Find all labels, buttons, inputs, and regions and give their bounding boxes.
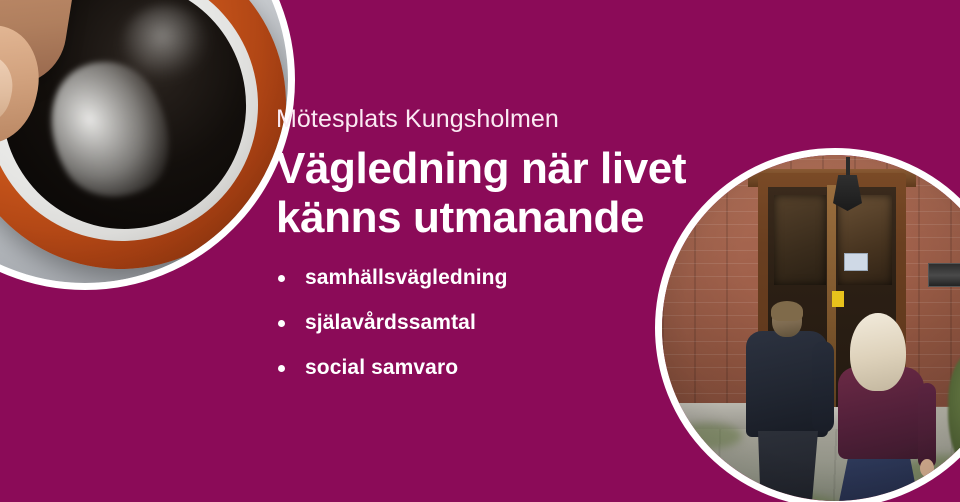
door-glass-left bbox=[774, 195, 826, 285]
woman-hand bbox=[920, 459, 934, 477]
man-hair bbox=[771, 301, 803, 321]
list-item: själavårdssamtal bbox=[276, 311, 696, 335]
coffee-mug-photo-inner bbox=[0, 0, 288, 283]
list-item-label: social samvaro bbox=[305, 356, 458, 379]
poster-banner: Mötesplats Kungsholmen Vägledning när li… bbox=[0, 0, 960, 502]
list-item-label: samhällsvägledning bbox=[305, 266, 508, 289]
man-arm bbox=[812, 341, 834, 433]
woman-arm bbox=[918, 383, 936, 469]
people-walking-photo bbox=[655, 148, 960, 502]
text-block: Mötesplats Kungsholmen Vägledning när li… bbox=[276, 104, 696, 401]
list-item-label: själavårdssamtal bbox=[305, 311, 476, 334]
door-sticker bbox=[832, 291, 844, 307]
headline-line-1: Vägledning när livet bbox=[276, 144, 696, 193]
bullet-dot-icon bbox=[278, 320, 285, 327]
service-list: samhällsvägledning själavårdssamtal soci… bbox=[276, 266, 696, 380]
lamp-bracket bbox=[846, 157, 850, 177]
coffee-mug-photo bbox=[0, 0, 295, 290]
woman-hair bbox=[850, 313, 906, 391]
bullet-dot-icon bbox=[278, 365, 285, 372]
people-walking-photo-inner bbox=[662, 155, 960, 501]
moss-patch bbox=[672, 423, 742, 449]
list-item: samhällsvägledning bbox=[276, 266, 696, 290]
list-item: social samvaro bbox=[276, 356, 696, 380]
bullet-dot-icon bbox=[278, 275, 285, 282]
door-sign bbox=[844, 253, 868, 271]
page-title: Vägledning när livet känns utmanande bbox=[276, 144, 696, 242]
headline-line-2: känns utmanande bbox=[276, 193, 696, 242]
wall-plaque bbox=[928, 263, 960, 287]
man-legs bbox=[758, 431, 818, 501]
eyebrow-text: Mötesplats Kungsholmen bbox=[276, 104, 696, 134]
